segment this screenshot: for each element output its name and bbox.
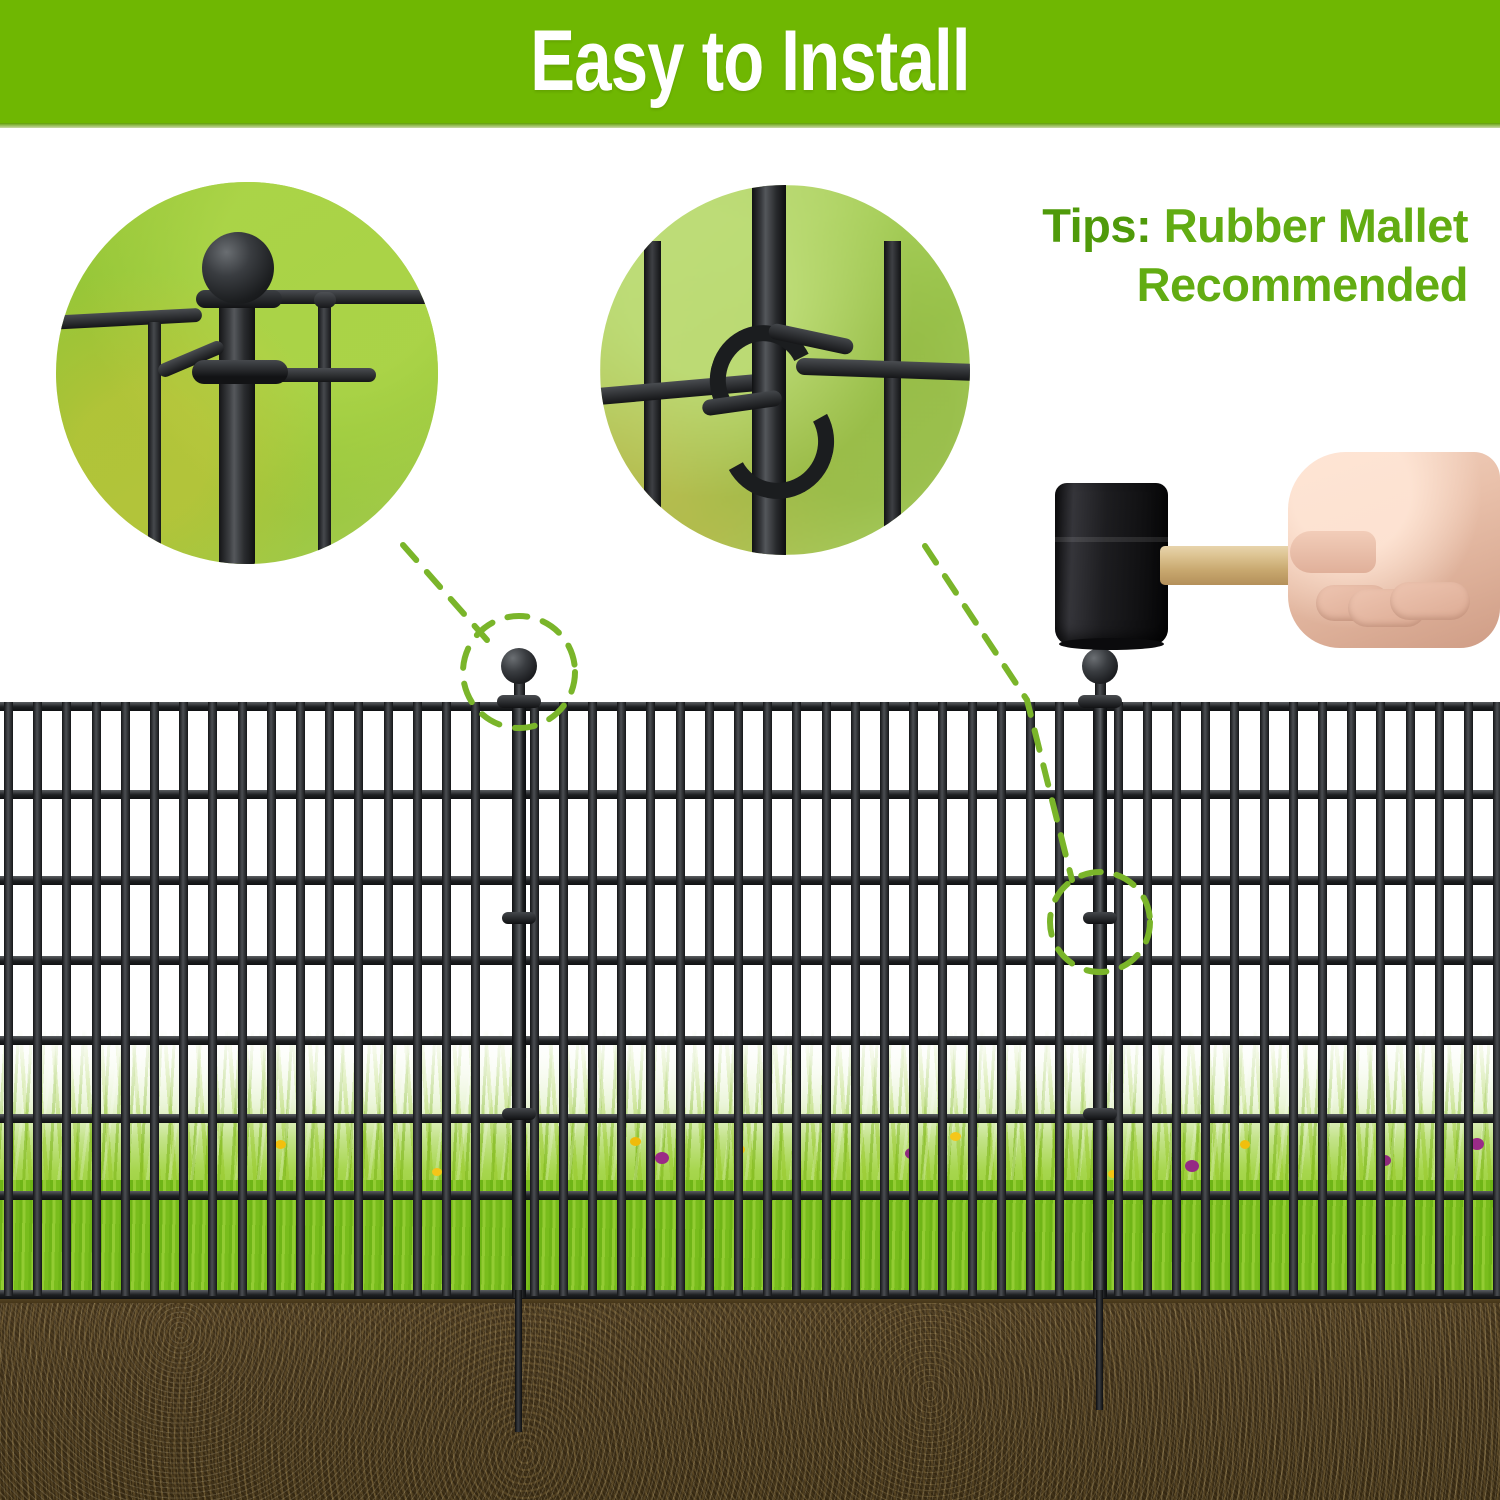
fence-rail — [0, 1191, 1500, 1200]
fence-bar — [121, 702, 130, 1296]
infographic-canvas: Easy to Install Tips: Rubber Mallet Reco… — [0, 0, 1500, 1500]
fence-bar — [559, 702, 568, 1296]
fence-bar — [354, 702, 363, 1296]
fence-bar — [1201, 702, 1210, 1296]
tips-line-1: Tips: Rubber Mallet — [828, 196, 1468, 255]
callout-circle-finial — [56, 182, 438, 564]
fence-bar — [1493, 702, 1500, 1296]
fence-post-left — [512, 702, 526, 1298]
fence-bar — [1026, 702, 1035, 1296]
tips-text: Tips: Rubber Mallet Recommended — [828, 196, 1468, 314]
page-title: Easy to Install — [165, 0, 1335, 123]
fence-bar — [705, 702, 714, 1296]
fence-bar — [1464, 702, 1473, 1296]
fence-bar — [1143, 702, 1152, 1296]
fence-rail — [0, 956, 1500, 965]
fence-bar — [1347, 702, 1356, 1296]
fence-bar — [646, 702, 655, 1296]
header-banner-edge — [0, 123, 1500, 128]
fence-bar — [1114, 702, 1123, 1296]
fence-bar — [267, 702, 276, 1296]
fence-rail — [0, 1114, 1500, 1123]
fence-bar — [1318, 702, 1327, 1296]
fence-bar — [384, 702, 393, 1296]
fence-post-right — [1093, 702, 1107, 1298]
fence-bar — [150, 702, 159, 1296]
post-cap-left — [497, 695, 541, 708]
post-finial-ball-detail — [202, 232, 274, 304]
fence-bar — [530, 702, 539, 1296]
fence-rail — [0, 1036, 1500, 1045]
fence-post-detail — [219, 294, 255, 564]
post-cap-right — [1078, 695, 1122, 708]
fence-bar — [1260, 702, 1269, 1296]
fence-bar — [588, 702, 597, 1296]
post-finial-right — [1082, 648, 1118, 684]
product-scene — [0, 640, 1500, 1500]
fence-bar — [792, 702, 801, 1296]
fence-bar — [179, 702, 188, 1296]
fence-bar — [471, 702, 480, 1296]
post-finial-left — [501, 648, 537, 684]
fence-bar-detail — [318, 298, 331, 564]
fence-bar — [4, 702, 13, 1296]
tips-line-2: Recommended — [828, 255, 1468, 314]
fence-bar — [938, 702, 947, 1296]
fence-bar — [851, 702, 860, 1296]
tips-line-1-rest: Rubber Mallet — [1151, 199, 1468, 252]
fence-bar — [62, 702, 71, 1296]
finger — [1390, 582, 1470, 620]
tips-label: Tips: — [1042, 199, 1151, 252]
fence-bar — [413, 702, 422, 1296]
fence-bar — [238, 702, 247, 1296]
fence-bar — [1376, 702, 1385, 1296]
post-joint-left — [502, 912, 536, 924]
fence-bar — [1406, 702, 1415, 1296]
fence-bar — [763, 702, 772, 1296]
fence-bar — [968, 702, 977, 1296]
post-joint-right — [1083, 912, 1117, 924]
fence-bar — [909, 702, 918, 1296]
post-stake-left — [515, 1290, 522, 1432]
fence-bar — [617, 702, 626, 1296]
fence-bar — [325, 702, 334, 1296]
fence-bar — [1289, 702, 1298, 1296]
fence-bar — [676, 702, 685, 1296]
fence-bar — [92, 702, 101, 1296]
fence-bar — [442, 702, 451, 1296]
fence-bar — [880, 702, 889, 1296]
fence-bar-detail — [148, 322, 161, 564]
fence-rail — [0, 876, 1500, 885]
fence-bar — [734, 702, 743, 1296]
post-joint-left — [502, 1108, 536, 1120]
fence-bar — [822, 702, 831, 1296]
post-collar-detail — [192, 360, 288, 384]
fence-bar — [1055, 702, 1064, 1296]
fence-bar — [296, 702, 305, 1296]
fence-bar — [997, 702, 1006, 1296]
fence-bar — [1172, 702, 1181, 1296]
fence-bar — [1230, 702, 1239, 1296]
post-joint-right — [1083, 1108, 1117, 1120]
fence-rail-bottom — [0, 1290, 1500, 1299]
rail-stud-detail — [314, 292, 336, 308]
post-stake-right — [1096, 1290, 1103, 1410]
thumb — [1290, 531, 1376, 573]
fence-assembly — [0, 640, 1500, 1500]
fence-bar — [33, 702, 42, 1296]
fence-rail — [0, 702, 1500, 711]
mallet-head — [1055, 483, 1168, 645]
fence-bar — [208, 702, 217, 1296]
fence-bar — [1435, 702, 1444, 1296]
fence-rail — [0, 790, 1500, 799]
